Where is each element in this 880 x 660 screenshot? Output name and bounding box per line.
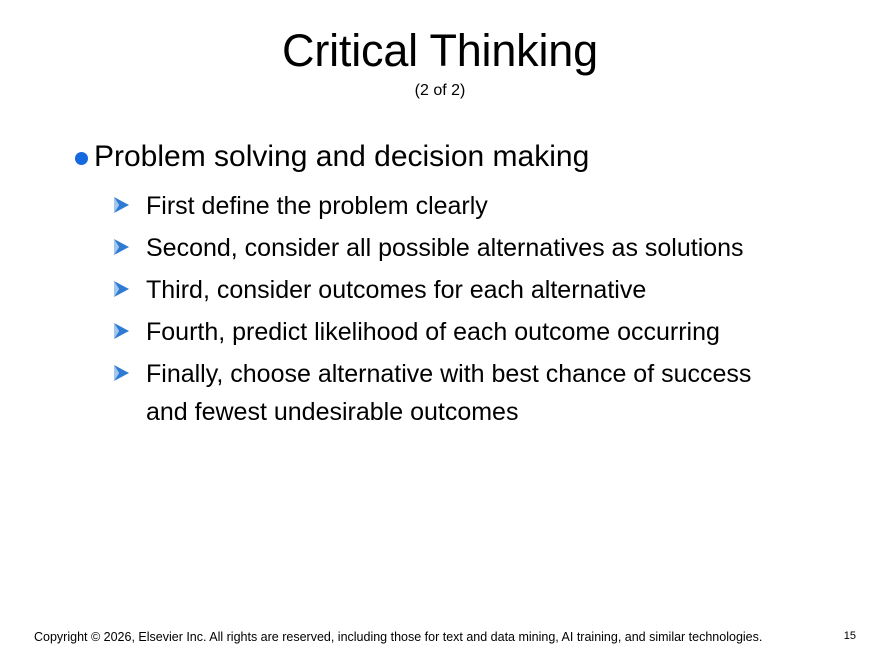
slide: Critical Thinking (2 of 2) Problem solvi…	[0, 0, 880, 660]
main-bullet-label: Problem solving and decision making	[94, 137, 589, 177]
slide-footer: Copyright © 2026, Elsevier Inc. All righ…	[34, 630, 864, 645]
list-item-label: Fourth, predict likelihood of each outco…	[146, 313, 720, 351]
page-subtitle: (2 of 2)	[0, 81, 880, 100]
list-item: Second, consider all possible alternativ…	[60, 229, 850, 267]
copyright-notice: Copyright © 2026, Elsevier Inc. All righ…	[34, 630, 762, 645]
title-block: Critical Thinking (2 of 2)	[0, 26, 880, 100]
list-item-label: Finally, choose alternative with best ch…	[146, 355, 786, 431]
main-bullet-item: Problem solving and decision making	[60, 137, 850, 177]
list-item: Fourth, predict likelihood of each outco…	[60, 313, 850, 351]
page-number: 15	[844, 630, 864, 645]
arrowhead-bullet-icon	[60, 187, 146, 214]
list-item: Third, consider outcomes for each altern…	[60, 271, 850, 309]
arrowhead-bullet-icon	[60, 229, 146, 256]
list-item-label: First define the problem clearly	[146, 187, 488, 225]
arrowhead-bullet-icon	[60, 271, 146, 298]
arrowhead-bullet-icon	[60, 355, 146, 382]
filled-circle-bullet-icon	[60, 137, 94, 165]
list-item: Finally, choose alternative with best ch…	[60, 355, 850, 431]
list-item-label: Second, consider all possible alternativ…	[146, 229, 744, 267]
list-item-label: Third, consider outcomes for each altern…	[146, 271, 646, 309]
page-title: Critical Thinking	[0, 26, 880, 76]
list-item: First define the problem clearly	[60, 187, 850, 225]
slide-body: Problem solving and decision making Firs…	[60, 137, 850, 435]
arrowhead-bullet-icon	[60, 313, 146, 340]
sub-bullet-list: First define the problem clearly Second,…	[60, 187, 850, 431]
